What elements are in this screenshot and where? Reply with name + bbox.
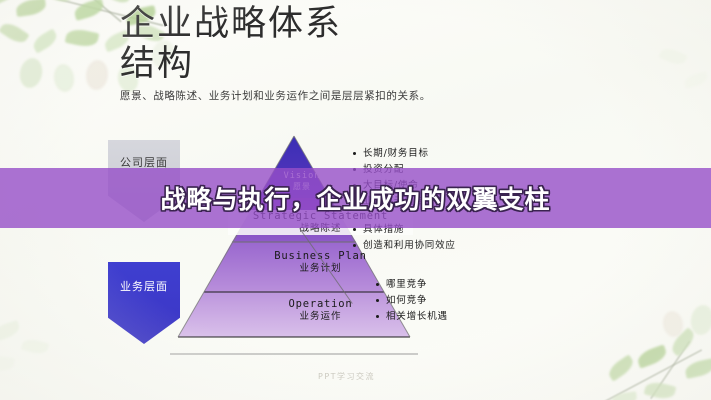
caption-band: 战略与执行，企业成功的双翼支柱 <box>0 168 711 228</box>
slide-title: 企业战略体系 结构 <box>120 4 560 84</box>
slide-title-line-2: 结构 <box>120 44 560 84</box>
leaf-decoration-bottom-left <box>0 300 124 400</box>
slide-canvas: 企业战略体系 结构 愿景、战略陈述、业务计划和业务运作之间是层层紧扣的关系。 <box>0 0 711 400</box>
tier-label-cn: 业务计划 <box>228 263 413 275</box>
caption-text: 战略与执行，企业成功的双翼支柱 <box>160 180 550 216</box>
watermark-text: PPT学习交流 <box>318 371 375 382</box>
annotation-item: 哪里竞争 <box>375 277 448 293</box>
slide-title-line-1: 企业战略体系 <box>120 4 342 44</box>
slide-subtitle: 愿景、战略陈述、业务计划和业务运作之间是层层紧扣的关系。 <box>120 89 580 103</box>
annotation-item: 长期/财务目标 <box>352 146 429 162</box>
annotation-item: 如何竞争 <box>375 293 448 309</box>
leaf-decoration-right <box>640 40 711 160</box>
annotation-item: 相关增长机遇 <box>375 309 448 325</box>
annotation-group-competition: 哪里竞争 如何竞争 相关增长机遇 <box>375 277 448 325</box>
annotation-item: 创造和利用协同效应 <box>352 238 456 254</box>
leaf-decoration-bottom-right <box>585 265 711 400</box>
banner-business-label: 业务层面 <box>120 280 168 293</box>
